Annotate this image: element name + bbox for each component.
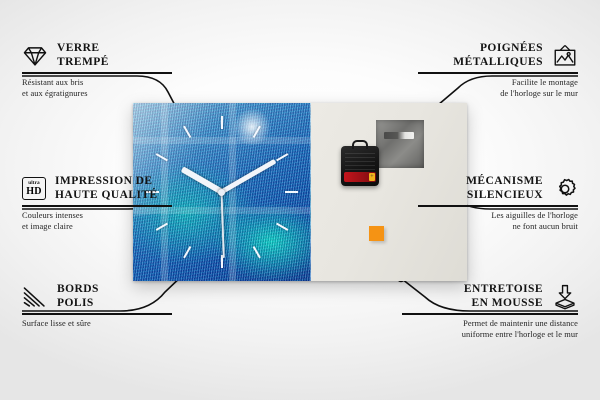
gear-icon (552, 176, 578, 202)
feature-callout-bords-polis: BORDS POLIS Surface lisse et sûre (22, 283, 172, 329)
clock-mechanism-box: + (341, 146, 379, 186)
feature-rule (22, 205, 172, 207)
feature-subtitle-line1: Permet de maintenir une distance (402, 318, 578, 329)
feature-callout-impression: ultra HD IMPRESSION DE HAUTE QUALITÉ Cou… (22, 175, 172, 232)
feature-subtitle-line2: et image claire (22, 221, 172, 232)
hour-tick (222, 191, 298, 193)
mechanism-vents (345, 152, 375, 170)
feature-title-line2: EN MOUSSE (464, 297, 543, 311)
feature-subtitle-line1: Couleurs intenses (22, 210, 172, 221)
foam-spacer-square (369, 226, 384, 241)
feature-title-line2: TREMPÉ (57, 56, 109, 70)
feature-title-line1: IMPRESSION DE (55, 175, 158, 189)
metal-hanger-plate (376, 120, 424, 168)
product-photo: + (133, 103, 467, 281)
feature-rule (418, 205, 578, 207)
hour-tick (221, 116, 223, 192)
feature-callout-poignees: POIGNÉES MÉTALLIQUES Facilite le montage… (418, 42, 578, 99)
feature-title-line2: POLIS (57, 297, 99, 311)
feature-subtitle-line2: et aux égratignures (22, 88, 172, 99)
hands-center-cap (218, 189, 225, 196)
diamond-icon (22, 43, 48, 69)
feature-rule (22, 72, 172, 74)
framed-picture-hanging-icon (552, 43, 578, 69)
feature-subtitle-line2: ne font aucun bruit (418, 221, 578, 232)
feature-subtitle-line1: Les aiguilles de l'horloge (418, 210, 578, 221)
hanger-slot (384, 132, 414, 139)
feature-callout-verre-trempe: VERRE TREMPÉ Résistant aux bris et aux é… (22, 42, 172, 99)
feature-subtitle-line2: uniforme entre l'horloge et le mur (402, 329, 578, 340)
infographic-canvas: + VERRE TREMPÉ Résistant aux bris et aux… (0, 0, 600, 400)
feature-title-line1: MÉCANISME (466, 175, 543, 189)
ultra-hd-large-text: HD (26, 187, 42, 197)
feature-title-line2: MÉTALLIQUES (453, 56, 543, 70)
polished-edge-lines-icon (22, 284, 48, 310)
feature-title-line1: BORDS (57, 283, 99, 297)
foam-spacer-arrow-icon (552, 284, 578, 310)
feature-rule (418, 72, 578, 74)
feature-rule (22, 313, 172, 315)
feature-callout-entretoise: ENTRETOISE EN MOUSSE Permet de maintenir… (402, 283, 578, 340)
ultra-hd-small-text: ultra (28, 181, 40, 186)
feature-subtitle-line2: de l'horloge sur le mur (418, 88, 578, 99)
battery-plus-terminal: + (369, 173, 375, 181)
feature-rule (402, 313, 578, 315)
feature-title-line2: HAUTE QUALITÉ (55, 189, 158, 203)
aa-battery: + (344, 172, 376, 182)
ultra-hd-icon: ultra HD (22, 177, 46, 200)
feature-title-line1: ENTRETOISE (464, 283, 543, 297)
feature-subtitle-line1: Surface lisse et sûre (22, 318, 172, 329)
feature-title-line2: SILENCIEUX (466, 189, 543, 203)
feature-callout-mecanisme: MÉCANISME SILENCIEUX Les aiguilles de l'… (418, 175, 578, 232)
feature-subtitle-line1: Facilite le montage (418, 77, 578, 88)
feature-title-line1: VERRE (57, 42, 109, 56)
feature-subtitle-line1: Résistant aux bris (22, 77, 172, 88)
mechanism-hanging-loop (352, 140, 368, 149)
feature-title-line1: POIGNÉES (453, 42, 543, 56)
